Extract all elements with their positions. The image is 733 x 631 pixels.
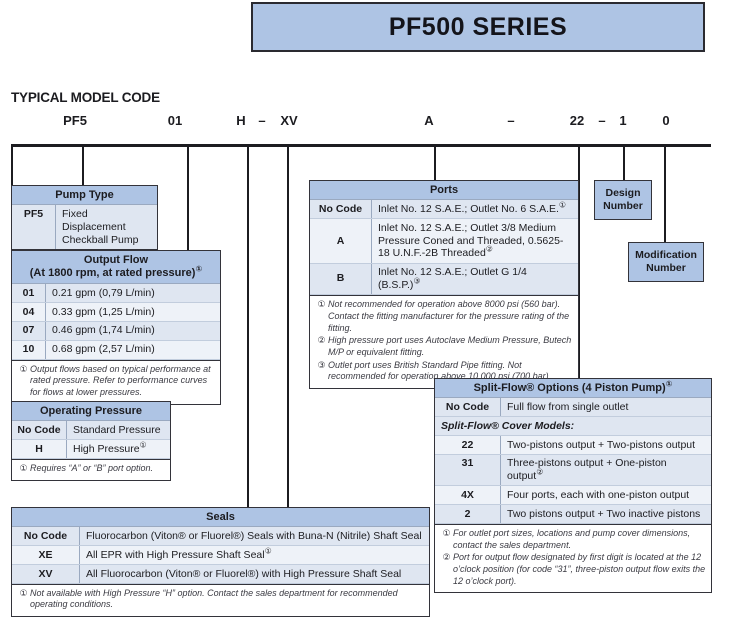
table-row: B Inlet No. 12 S.A.E.; Outlet G 1/4 (B.S…	[310, 264, 578, 296]
footnote-ref: ①	[140, 440, 147, 449]
footnote: ① For outlet port sizes, locations and p…	[440, 528, 706, 551]
footnote: ① Output flows based on typical performa…	[17, 364, 215, 399]
seals-desc: All Fluorocarbon (Viton® or Fluorel®) wi…	[80, 565, 429, 583]
model-code-row: PF5 01 H – XV A – 22 – 1 0	[0, 112, 733, 134]
model-code-segment: –	[252, 112, 272, 130]
ports-desc-text: Inlet No. 12 S.A.E.; Outlet 3/8 Medium P…	[378, 222, 563, 260]
table-row: 31 Three-pistons output + One-piston out…	[435, 455, 711, 487]
page-title: PF500 SERIES	[389, 13, 567, 42]
footnote-text: Not available with High Pressure “H” opt…	[30, 588, 424, 611]
operating-pressure-desc-text: High Pressure	[73, 443, 140, 455]
footnote-text: Not recommended for operation above 8000…	[328, 299, 573, 334]
design-number-line1: Design	[603, 187, 643, 200]
output-flow-desc: 0.33 gpm (1,25 L/min)	[46, 303, 220, 321]
output-flow-table: Output Flow (At 1800 rpm, at rated press…	[11, 250, 221, 405]
operating-pressure-desc: Standard Pressure	[67, 421, 170, 439]
seals-header: Seals	[12, 508, 429, 527]
split-flow-desc-text: Three-pistons output + One-piston output	[507, 457, 667, 482]
footnote: ② Port for output flow designated by fir…	[440, 552, 706, 587]
operating-pressure-header: Operating Pressure	[12, 402, 170, 421]
seals-code: XV	[12, 565, 80, 583]
output-flow-code: 04	[12, 303, 46, 321]
output-flow-header: Output Flow (At 1800 rpm, at rated press…	[12, 251, 220, 284]
footnote-marker: ①	[17, 588, 30, 611]
seals-notes: ① Not available with High Pressure “H” o…	[12, 584, 429, 616]
footnote-ref: ①	[559, 200, 566, 209]
footnote-marker: ①	[440, 528, 453, 551]
split-flow-desc: Two pistons output + Two inactive piston…	[501, 505, 711, 523]
ports-desc: Inlet No. 12 S.A.E.; Outlet 3/8 Medium P…	[372, 219, 578, 262]
seals-desc-text: Fluorocarbon (Viton® or Fluorel®) Seals …	[86, 530, 422, 542]
connector-line-seals-a	[247, 147, 249, 508]
split-flow-table: Split-Flow® Options (4 Piston Pump)① No …	[434, 378, 712, 593]
split-flow-header-text: Split-Flow® Options (4 Piston Pump)	[474, 382, 666, 394]
split-flow-desc: Two-pistons output + Two-pistons output	[501, 436, 711, 454]
design-number-box: Design Number	[594, 180, 652, 220]
output-flow-header-note: ①	[195, 264, 202, 273]
ports-code: A	[310, 219, 372, 262]
model-code-segment: –	[500, 112, 522, 130]
model-code-segment: H	[230, 112, 252, 130]
footnote-text: For outlet port sizes, locations and pum…	[453, 528, 706, 551]
table-row: PF5 Fixed Displacement Checkball Pump	[12, 205, 157, 248]
output-flow-header-line2: (At 1800 rpm, at rated pressure)	[30, 267, 196, 279]
footnote-ref: ①	[265, 546, 272, 555]
footnote: ① Requires “A” or “B” port option.	[17, 463, 165, 475]
split-flow-notes: ① For outlet port sizes, locations and p…	[435, 524, 711, 592]
footnote-ref: ②	[536, 468, 543, 477]
split-flow-desc: Full flow from single outlet	[501, 398, 711, 416]
output-flow-desc: 0.46 gpm (1,74 L/min)	[46, 322, 220, 340]
connector-line-seals-b	[287, 147, 289, 508]
seals-code: XE	[12, 546, 80, 564]
split-flow-header: Split-Flow® Options (4 Piston Pump)①	[435, 379, 711, 398]
split-flow-code: No Code	[435, 398, 501, 416]
split-flow-code: 4X	[435, 486, 501, 504]
ports-desc: Inlet No. 12 S.A.E.; Outlet No. 6 S.A.E.…	[372, 200, 578, 218]
footnote: ① Not recommended for operation above 80…	[315, 299, 573, 334]
split-flow-desc-text: Two-pistons output + Two-pistons output	[507, 439, 695, 451]
seals-desc-text: All EPR with High Pressure Shaft Seal	[86, 549, 265, 561]
seals-desc: All EPR with High Pressure Shaft Seal①	[80, 546, 429, 564]
split-flow-code: 31	[435, 455, 501, 486]
connector-line-modification-number	[664, 147, 666, 243]
ports-header: Ports	[310, 181, 578, 200]
operating-pressure-table: Operating Pressure No Code Standard Pres…	[11, 401, 171, 481]
model-code-bar	[11, 144, 711, 147]
footnote-marker: ③	[315, 360, 328, 383]
connector-line-design-number	[623, 147, 625, 181]
operating-pressure-notes: ① Requires “A” or “B” port option.	[12, 459, 170, 480]
ports-table: Ports No Code Inlet No. 12 S.A.E.; Outle…	[309, 180, 579, 389]
footnote-marker: ②	[440, 552, 453, 587]
seals-desc: Fluorocarbon (Viton® or Fluorel®) Seals …	[80, 527, 429, 545]
modification-number-line1: Modification	[635, 249, 697, 262]
footnote-text: Port for output flow designated by first…	[453, 552, 706, 587]
ports-desc: Inlet No. 12 S.A.E.; Outlet G 1/4 (B.S.P…	[372, 264, 578, 295]
split-flow-desc-text: Four ports, each with one-piston output	[507, 489, 689, 501]
split-flow-subheader: Split-Flow® Cover Models:	[435, 417, 711, 436]
operating-pressure-code: No Code	[12, 421, 67, 439]
table-row: 2 Two pistons output + Two inactive pist…	[435, 505, 711, 524]
modification-number-box: Modification Number	[628, 242, 704, 282]
table-row: A Inlet No. 12 S.A.E.; Outlet 3/8 Medium…	[310, 219, 578, 263]
pump-type-header: Pump Type	[12, 186, 157, 205]
footnote: ① Not available with High Pressure “H” o…	[17, 588, 424, 611]
table-row: 10 0.68 gpm (2,57 L/min)	[12, 341, 220, 360]
footnote-text: High pressure port uses Autoclave Medium…	[328, 335, 573, 358]
model-code-segment: 0	[655, 112, 677, 130]
pump-type-desc: Fixed Displacement Checkball Pump	[56, 205, 157, 248]
ports-notes: ① Not recommended for operation above 80…	[310, 295, 578, 388]
model-code-segment: 22	[562, 112, 592, 130]
ports-code: No Code	[310, 200, 372, 218]
design-number-line2: Number	[603, 200, 643, 213]
table-row: No Code Standard Pressure	[12, 421, 170, 440]
pump-type-code: PF5	[12, 205, 56, 248]
footnote-text: Output flows based on typical performanc…	[30, 364, 215, 399]
table-row: H High Pressure①	[12, 440, 170, 459]
split-flow-desc-text: Two pistons output + Two inactive piston…	[507, 508, 700, 520]
output-flow-notes: ① Output flows based on typical performa…	[12, 360, 220, 404]
model-code-segment: XV	[272, 112, 306, 130]
model-code-segment: –	[592, 112, 612, 130]
output-flow-code: 07	[12, 322, 46, 340]
table-row: No Code Full flow from single outlet	[435, 398, 711, 417]
seals-code: No Code	[12, 527, 80, 545]
page-title-banner: PF500 SERIES	[251, 2, 705, 52]
footnote-ref: ②	[486, 245, 493, 254]
ports-code: B	[310, 264, 372, 295]
operating-pressure-desc-text: Standard Pressure	[73, 424, 161, 436]
seals-desc-text: All Fluorocarbon (Viton® or Fluorel®) wi…	[86, 568, 401, 580]
table-row: No Code Inlet No. 12 S.A.E.; Outlet No. …	[310, 200, 578, 219]
footnote-text: Requires “A” or “B” port option.	[30, 463, 165, 475]
footnote-marker: ②	[315, 335, 328, 358]
connector-line-ports	[434, 147, 436, 181]
operating-pressure-code: H	[12, 440, 67, 458]
seals-table: Seals No Code Fluorocarbon (Viton® or Fl…	[11, 507, 430, 617]
model-code-segment: 01	[155, 112, 195, 130]
model-code-segment: A	[418, 112, 440, 130]
split-flow-desc: Three-pistons output + One-piston output…	[501, 455, 711, 486]
operating-pressure-desc: High Pressure①	[67, 440, 170, 458]
table-row: 07 0.46 gpm (1,74 L/min)	[12, 322, 220, 341]
connector-line-pump-type	[82, 147, 84, 186]
footnote: ② High pressure port uses Autoclave Medi…	[315, 335, 573, 358]
ports-desc-text: Inlet No. 12 S.A.E.; Outlet G 1/4 (B.S.P…	[378, 266, 527, 291]
table-row: 22 Two-pistons output + Two-pistons outp…	[435, 436, 711, 455]
output-flow-desc: 0.21 gpm (0,79 L/min)	[46, 284, 220, 302]
split-flow-desc: Four ports, each with one-piston output	[501, 486, 711, 504]
footnote-ref: ①	[666, 379, 673, 388]
model-code-segment: 1	[612, 112, 634, 130]
ports-desc-text: Inlet No. 12 S.A.E.; Outlet No. 6 S.A.E.	[378, 203, 559, 215]
table-row: 4X Four ports, each with one-piston outp…	[435, 486, 711, 505]
table-row: 04 0.33 gpm (1,25 L/min)	[12, 303, 220, 322]
model-code-segment: PF5	[45, 112, 105, 130]
split-flow-code: 22	[435, 436, 501, 454]
modification-number-line2: Number	[635, 262, 697, 275]
split-flow-code: 2	[435, 505, 501, 523]
table-row: XE All EPR with High Pressure Shaft Seal…	[12, 546, 429, 565]
pump-type-table: Pump Type PF5 Fixed Displacement Checkba…	[11, 185, 158, 250]
footnote-ref: ③	[413, 276, 420, 285]
footnote-marker: ①	[17, 364, 30, 399]
footnote-marker: ①	[315, 299, 328, 334]
output-flow-desc: 0.68 gpm (2,57 L/min)	[46, 341, 220, 359]
table-row: XV All Fluorocarbon (Viton® or Fluorel®)…	[12, 565, 429, 584]
table-row: 01 0.21 gpm (0,79 L/min)	[12, 284, 220, 303]
section-heading: TYPICAL MODEL CODE	[11, 90, 160, 105]
table-row: No Code Fluorocarbon (Viton® or Fluorel®…	[12, 527, 429, 546]
output-flow-header-line1: Output Flow	[14, 254, 218, 267]
output-flow-code: 10	[12, 341, 46, 359]
footnote-marker: ①	[17, 463, 30, 475]
output-flow-code: 01	[12, 284, 46, 302]
